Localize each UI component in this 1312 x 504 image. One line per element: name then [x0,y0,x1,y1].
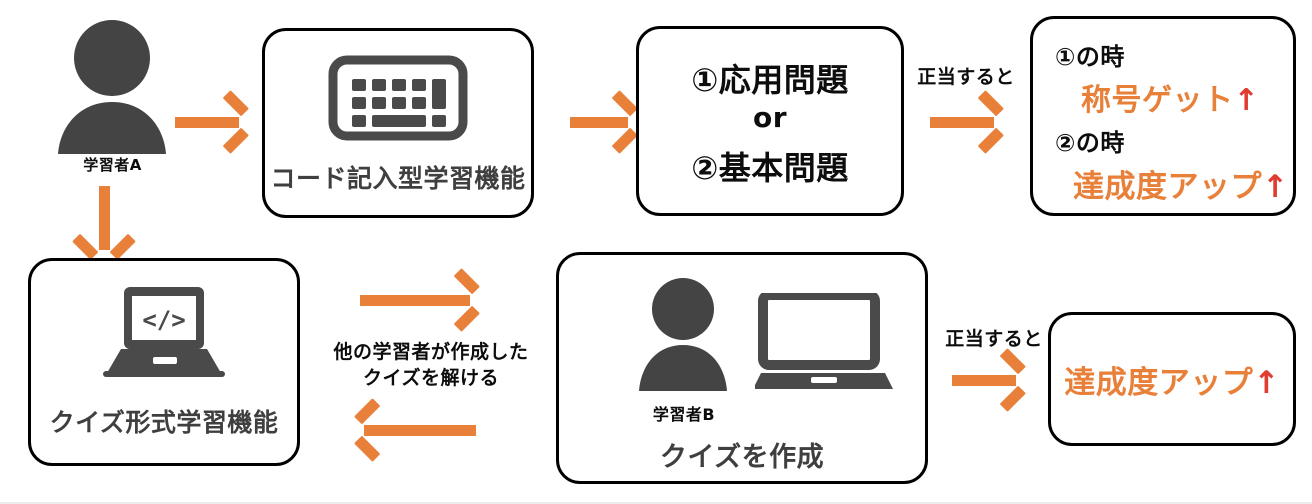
edge-quiz-to-b-left [356,408,476,452]
edge-learner-a-to-quiz [82,186,126,258]
learner-b-caption: クイズを作成 [559,435,925,474]
learner-b-label: 学習者B [629,401,739,425]
node-reward-bottom[interactable]: 達成度アップ↑ [1048,312,1296,446]
reward-bottom-arrow-icon: ↑ [1253,365,1279,401]
reward-bottom-text: 達成度アップ [1064,365,1253,401]
reward-value-2: 達成度アップ↑ [1073,161,1288,206]
svg-text:</>: </> [142,306,185,334]
edge-question-to-reward [930,100,1002,144]
edge-label-correct-top: 正当すると [910,62,1022,89]
edge-label-correct-bottom: 正当すると [938,324,1050,351]
quiz-learning-caption: クイズ形式学習機能 [31,403,297,439]
node-learner-a: 学習者A [40,14,185,175]
node-learner-b[interactable]: 学習者B クイズを作成 [556,252,928,484]
reward-condition-2: ②の時 [1055,123,1125,158]
person-icon [625,273,741,395]
edge-label-other-learner-line1: 他の学習者が作成した [322,340,540,366]
person-icon [40,14,185,154]
reward-condition-1: ①の時 [1055,37,1125,72]
node-reward-top[interactable]: ①の時 称号ゲット↑ ②の時 達成度アップ↑ [1030,16,1296,216]
diagram-canvas: 学習者A コード記入型学習機能 [0,0,1312,504]
edge-label-other-learner: 他の学習者が作成した クイズを解ける [322,340,540,391]
question-option-1: ①応用問題 [639,55,901,101]
reward-value-2-text: 達成度アップ [1073,169,1262,205]
reward-value-1: 称号ゲット↑ [1081,75,1259,119]
monitor-icon [755,293,893,393]
question-option-2: ②基本問題 [639,143,901,189]
node-quiz-learning[interactable]: </> クイズ形式学習機能 [28,258,300,466]
laptop-code-icon: </> [99,283,229,381]
edge-b-to-reward [952,358,1024,402]
reward-bottom-value: 達成度アップ↑ [1051,357,1293,402]
code-learning-caption: コード記入型学習機能 [265,159,531,195]
edge-b-to-quiz-right [360,278,478,322]
node-question-type[interactable]: ①応用問題 or ②基本問題 [636,26,904,216]
question-or: or [639,101,901,134]
learner-a-label: 学習者A [40,154,185,175]
edge-learner-a-to-code [175,100,247,144]
node-code-learning[interactable]: コード記入型学習機能 [262,28,534,218]
edge-label-other-learner-line2: クイズを解ける [322,366,540,392]
reward-value-1-text: 称号ゲット [1081,83,1234,118]
reward-value-1-arrow-icon: ↑ [1234,83,1260,118]
keyboard-icon [328,55,468,141]
reward-value-2-arrow-icon: ↑ [1262,169,1288,205]
edge-code-to-question [570,100,636,144]
